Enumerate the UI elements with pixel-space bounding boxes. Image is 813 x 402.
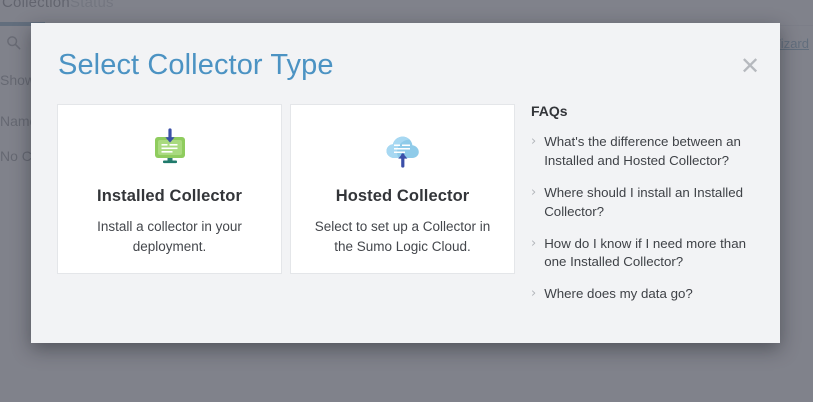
card-hosted-collector-description: Select to set up a Collector in the Sumo… <box>314 217 492 257</box>
close-icon[interactable]: ✕ <box>737 53 763 79</box>
dialog-title: Select Collector Type <box>58 49 334 82</box>
card-installed-collector-description: Install a collector in your deployment. <box>81 217 259 257</box>
card-installed-collector[interactable]: Installed Collector Install a collector … <box>57 104 282 274</box>
card-installed-collector-title: Installed Collector <box>97 187 242 206</box>
faq-item[interactable]: › How do I know if I need more than one … <box>531 235 766 273</box>
card-hosted-collector-title: Hosted Collector <box>336 187 470 206</box>
faq-item[interactable]: › Where should I install an Installed Co… <box>531 184 766 222</box>
faq-item-label: Where does my data go? <box>544 285 693 304</box>
faq-panel: FAQs › What's the difference between an … <box>531 103 766 317</box>
faq-item-label: Where should I install an Installed Coll… <box>544 184 766 222</box>
faq-item-label: What's the difference between an Install… <box>544 133 766 171</box>
monitor-download-icon <box>149 127 191 171</box>
card-hosted-collector[interactable]: Hosted Collector Select to set up a Coll… <box>290 104 515 274</box>
faq-item-label: How do I know if I need more than one In… <box>544 235 766 273</box>
faq-item[interactable]: › Where does my data go? <box>531 285 766 304</box>
select-collector-type-dialog: ✕ Select Collector Type Installed <box>31 23 780 343</box>
chevron-right-icon: › <box>531 235 536 273</box>
cloud-upload-icon <box>382 127 424 171</box>
chevron-right-icon: › <box>531 285 536 304</box>
chevron-right-icon: › <box>531 133 536 171</box>
chevron-right-icon: › <box>531 184 536 222</box>
faq-heading: FAQs <box>531 103 766 119</box>
collector-type-cards: Installed Collector Install a collector … <box>57 104 515 274</box>
faq-item[interactable]: › What's the difference between an Insta… <box>531 133 766 171</box>
